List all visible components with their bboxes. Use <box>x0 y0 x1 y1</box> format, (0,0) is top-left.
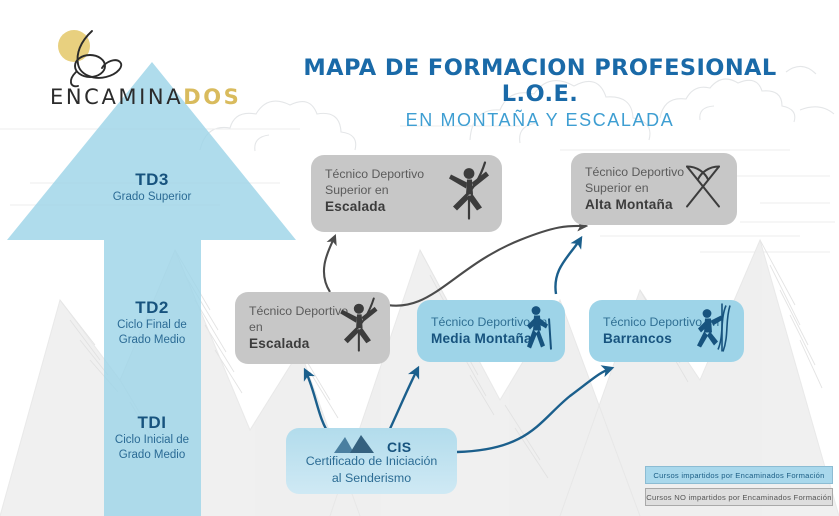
climber-icon <box>438 156 496 231</box>
logo-wordmark: ENCAMINADOS <box>50 85 241 109</box>
card-tds-escalada-bold: Escalada <box>325 198 446 216</box>
brand-logo[interactable]: ENCAMINADOS <box>40 28 255 113</box>
card-td-barrancos-bold: Barrancos <box>603 330 696 348</box>
card-td-escalada-text: Técnico Deportivo en Escalada <box>249 303 334 353</box>
canyoning-icon <box>692 302 738 361</box>
legend-included: Cursos impartidos por Encaminados Formac… <box>645 466 833 484</box>
level-td1-title: TDI <box>72 413 232 433</box>
level-td1-sub2: Grado Medio <box>72 449 232 463</box>
card-tds-escalada-line2: Superior en <box>325 182 446 198</box>
card-td-escalada-bold: Escalada <box>249 335 334 353</box>
card-cis-subtitle: Certificado de Iniciación al Senderismo <box>286 453 457 486</box>
logo-word-part1: ENCAMINA <box>50 85 183 109</box>
climber-icon <box>330 293 384 364</box>
level-td3-title: TD3 <box>72 170 232 190</box>
logo-word-part2: DOS <box>183 85 241 109</box>
card-td-media-montana-bold: Media Montaña <box>431 330 517 348</box>
level-label-td2: TD2 Ciclo Final de Grado Medio <box>72 298 232 347</box>
level-td2-sub2: Grado Medio <box>72 334 232 348</box>
level-td1-sub1: Ciclo Inicial de <box>72 434 232 448</box>
hiker-icon <box>517 303 559 360</box>
card-td-barrancos[interactable]: Técnico Deportivo en Barrancos <box>589 300 744 362</box>
card-td-barrancos-line1: Técnico Deportivo en <box>603 314 696 330</box>
card-cis-sub-line2: al Senderismo <box>286 470 457 487</box>
legend-included-label: Cursos impartidos por Encaminados Formac… <box>653 471 824 480</box>
legend-excluded-label: Cursos NO impartidos por Encaminados For… <box>646 493 831 502</box>
card-tds-escalada[interactable]: Técnico Deportivo Superior en Escalada <box>311 155 502 232</box>
level-td3-sub1: Grado Superior <box>72 191 232 205</box>
level-td2-sub1: Ciclo Final de <box>72 319 232 333</box>
card-td-escalada-line2: en <box>249 319 334 335</box>
crossed-ice-axes-icon <box>675 157 731 222</box>
page-title: MAPA DE FORMACION PROFESIONAL L.O.E. <box>270 55 810 107</box>
card-td-escalada-line1: Técnico Deportivo <box>249 303 334 319</box>
card-td-media-montana[interactable]: Técnico Deportivo en Media Montaña <box>417 300 565 362</box>
card-td-barrancos-text: Técnico Deportivo en Barrancos <box>603 314 696 348</box>
card-tds-alta-montana-text: Técnico Deportivo Superior en Alta Monta… <box>585 164 681 214</box>
card-cis-sub-line1: Certificado de Iniciación <box>286 453 457 470</box>
card-tds-alta-montana-line1: Técnico Deportivo <box>585 164 681 180</box>
level-label-td3: TD3 Grado Superior <box>72 170 232 205</box>
card-cis[interactable]: CIS Certificado de Iniciación al Senderi… <box>286 428 457 494</box>
card-tds-escalada-text: Técnico Deportivo Superior en Escalada <box>325 166 446 216</box>
infographic-canvas: ENCAMINADOS MAPA DE FORMACION PROFESIONA… <box>0 0 839 516</box>
page-subtitle: EN MONTAÑA Y ESCALADA <box>270 110 810 131</box>
level-label-td1: TDI Ciclo Inicial de Grado Medio <box>72 413 232 462</box>
card-td-media-montana-line1: Técnico Deportivo en <box>431 314 517 330</box>
card-tds-alta-montana[interactable]: Técnico Deportivo Superior en Alta Monta… <box>571 153 737 225</box>
level-td2-title: TD2 <box>72 298 232 318</box>
page-title-block: MAPA DE FORMACION PROFESIONAL L.O.E. EN … <box>270 55 810 131</box>
card-tds-alta-montana-bold: Alta Montaña <box>585 196 681 214</box>
card-tds-alta-montana-line2: Superior en <box>585 180 681 196</box>
legend-excluded: Cursos NO impartidos por Encaminados For… <box>645 488 833 506</box>
card-td-escalada[interactable]: Técnico Deportivo en Escalada <box>235 292 390 364</box>
card-tds-escalada-line1: Técnico Deportivo <box>325 166 446 182</box>
card-td-media-montana-text: Técnico Deportivo en Media Montaña <box>431 314 517 348</box>
logo-mark <box>40 28 255 90</box>
